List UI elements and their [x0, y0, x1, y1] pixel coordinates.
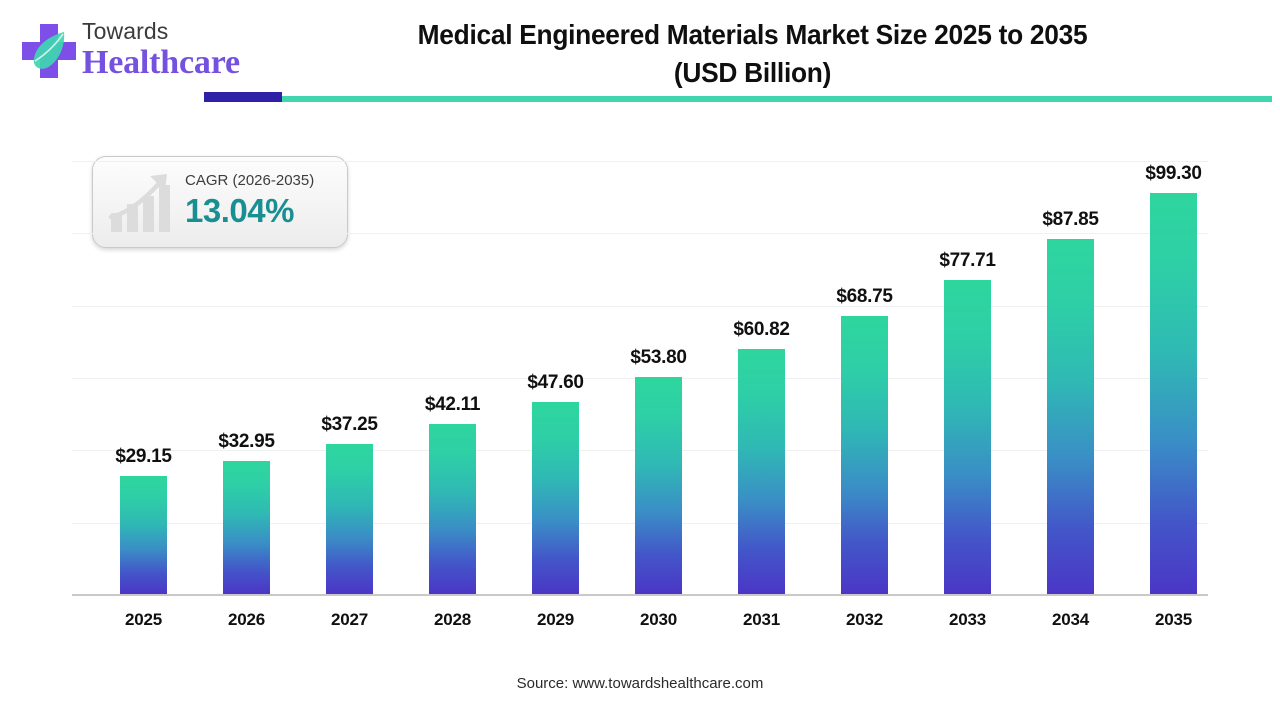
bar-2027[interactable] [326, 444, 373, 594]
bar-group: $32.95 [195, 150, 298, 594]
bar-2031[interactable] [738, 349, 785, 594]
bar-group: $47.60 [504, 150, 607, 594]
bar-group: $37.25 [298, 150, 401, 594]
chart-x-axis-labels: 2025202620272028202920302031203220332034… [72, 610, 1208, 636]
brand-wordmark: Towards Healthcare [82, 18, 262, 81]
bar-value-label: $42.11 [387, 394, 518, 416]
bar-2030[interactable] [635, 377, 682, 594]
chart-header: Towards Healthcare Medical Engineered Ma… [0, 0, 1280, 100]
x-axis-label-2025: 2025 [92, 610, 195, 630]
bar-2035[interactable] [1150, 193, 1197, 594]
x-axis-label-2033: 2033 [916, 610, 1019, 630]
brand-wordmark-healthcare: Healthcare [82, 45, 262, 81]
chart-x-axis-line [72, 594, 1208, 596]
medical-cross-leaf-logo-icon [18, 20, 80, 82]
bar-group: $29.15 [92, 150, 195, 594]
bar-value-label: $87.85 [1005, 209, 1136, 231]
x-axis-label-2032: 2032 [813, 610, 916, 630]
x-axis-label-2029: 2029 [504, 610, 607, 630]
bar-value-label: $77.71 [902, 250, 1033, 272]
bar-value-label: $60.82 [696, 319, 827, 341]
source-note: Source: www.towardshealthcare.com [0, 675, 1280, 692]
page-title-line-2: (USD Billion) [674, 57, 831, 88]
bar-value-label: $37.25 [284, 414, 415, 436]
x-axis-label-2027: 2027 [298, 610, 401, 630]
header-divider-line [204, 96, 1272, 102]
bar-value-label: $99.30 [1108, 163, 1239, 185]
bar-group: $53.80 [607, 150, 710, 594]
bar-2033[interactable] [944, 280, 991, 594]
bar-group: $99.30 [1122, 150, 1225, 594]
bar-value-label: $53.80 [593, 347, 724, 369]
bar-group: $87.85 [1019, 150, 1122, 594]
x-axis-label-2030: 2030 [607, 610, 710, 630]
bar-2026[interactable] [223, 461, 270, 594]
bar-2025[interactable] [120, 476, 167, 594]
bar-2034[interactable] [1047, 239, 1094, 594]
bar-group: $60.82 [710, 150, 813, 594]
x-axis-label-2034: 2034 [1019, 610, 1122, 630]
bar-group: $77.71 [916, 150, 1019, 594]
x-axis-label-2026: 2026 [195, 610, 298, 630]
x-axis-label-2028: 2028 [401, 610, 504, 630]
chart-bars: $29.15$32.95$37.25$42.11$47.60$53.80$60.… [72, 150, 1208, 594]
bar-2029[interactable] [532, 402, 579, 594]
x-axis-label-2031: 2031 [710, 610, 813, 630]
bar-2028[interactable] [429, 424, 476, 594]
bar-group: $42.11 [401, 150, 504, 594]
bar-value-label: $68.75 [799, 286, 930, 308]
header-divider-accent [204, 92, 282, 102]
brand-logo: Towards Healthcare [18, 14, 248, 90]
bar-2032[interactable] [841, 316, 888, 594]
brand-wordmark-towards: Towards [82, 18, 262, 44]
chart-plot-area: $29.15$32.95$37.25$42.11$47.60$53.80$60.… [72, 150, 1208, 596]
x-axis-label-2035: 2035 [1122, 610, 1225, 630]
page-title: Medical Engineered Materials Market Size… [327, 16, 1178, 92]
bar-value-label: $47.60 [490, 372, 621, 394]
bar-group: $68.75 [813, 150, 916, 594]
page-title-line-1: Medical Engineered Materials Market Size… [418, 19, 1088, 50]
